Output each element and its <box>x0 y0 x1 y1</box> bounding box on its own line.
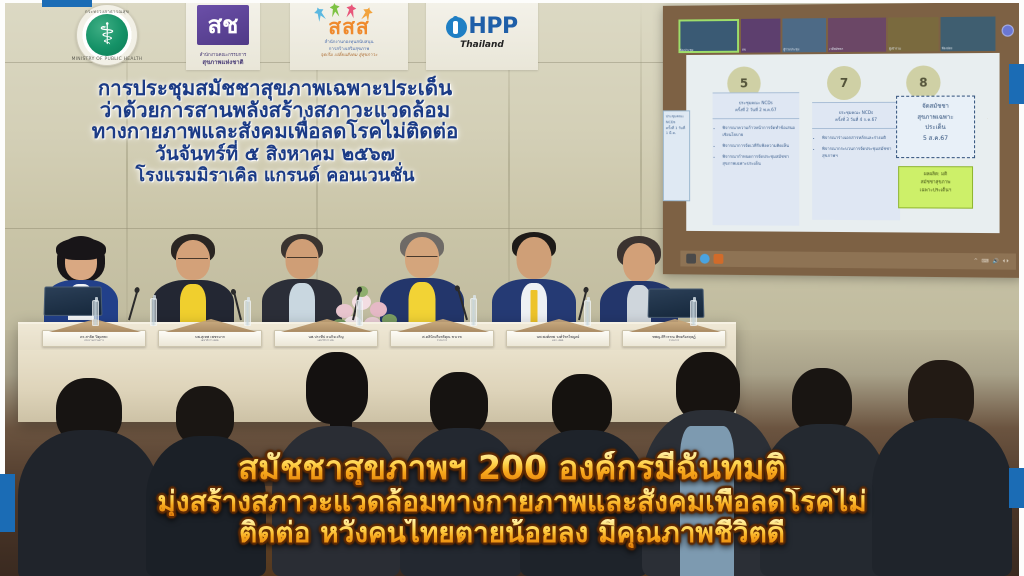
backdrop-line-4: วันจันทร์ที่ ๕ สิงหาคม ๒๕๖๗ <box>60 145 490 164</box>
audience-head <box>430 372 488 436</box>
accent-right-top <box>1009 64 1024 104</box>
col7-bullet: พิจารณากระบวนการจัดประชุมสมัชชาสุขภาพฯ <box>822 146 896 160</box>
screenshot-root: กระทรวงสาธารณสุข MINISTRY OF PUBLIC HEAL… <box>0 0 1024 576</box>
dashed-line: สุขภาพเฉพาะ <box>899 112 972 123</box>
panelist <box>600 236 678 334</box>
moph-ring-bottom: MINISTRY OF PUBLIC HEALTH <box>72 57 143 62</box>
nameplate-role: เลขาธิการ สช. <box>318 339 335 342</box>
accent-right-bottom <box>1009 468 1024 508</box>
projector-screen: ห้องประชุม สช ผู้ร่วมประชุม เวทีสมัชชา ผ… <box>663 2 1022 278</box>
nameplate: นพ.ประทีป ธนกิจเจริญ เลขาธิการ สช. <box>274 330 378 347</box>
audience-body <box>272 426 400 576</box>
head-table: ดร.สาธิต ปิตุเตชะ ประธานกรรมการ นพ.สุเทพ… <box>18 322 736 422</box>
logo-thaihealth: สสส สำนักงานกองทุนสนับสนุน การสร้างเสริม… <box>290 0 408 70</box>
thaihealth-sub-line1: สำนักงานกองทุนสนับสนุน <box>290 40 408 47</box>
slide-output-green-box: ผลผลิต: มติ สมัชชาสุขภาพ เฉพาะประเด็นฯ <box>898 166 973 209</box>
audience-body <box>872 418 1012 576</box>
thaihealth-sub-line3: จุดเริ่ม เปลี่ยนสังคม สู่สุขภาวะ <box>290 53 408 60</box>
water-bottle <box>690 300 697 326</box>
audience-body <box>520 430 648 576</box>
video-tile-label: ห้องย่อย <box>942 46 953 51</box>
nhco-caption-line2: สุขภาพแห่งชาติ <box>186 59 260 67</box>
accent-top-tab <box>42 0 92 7</box>
video-tile[interactable]: สช <box>741 19 780 53</box>
logo-ihpp: HPP Thailand <box>426 0 538 70</box>
ihpp-country-label: Thailand <box>426 40 538 50</box>
water-bottle <box>150 298 157 326</box>
table-skirt <box>18 350 736 422</box>
system-tray[interactable]: ^ ⌨ 🔊 ⏴⏵ <box>974 258 1010 264</box>
slide-left-partial-column: ประชุมคณะ NCDs ครั้งที่ 1 วันที่ 1 มี.ค. <box>663 110 690 201</box>
dashed-line: 5 ส.ค.67 <box>899 133 972 144</box>
slide-column-5: ประชุมคณะ NCDs ครั้งที่ 2 วันที่ 2 พ.ค.6… <box>713 92 800 226</box>
panelist <box>152 234 234 334</box>
nameplate-role: ผจก. สสส. <box>552 339 564 342</box>
panelist <box>492 232 576 334</box>
nhco-mark-icon: สช <box>197 5 249 45</box>
moph-seal-icon: กระทรวงสาธารณสุข MINISTRY OF PUBLIC HEAL… <box>76 4 138 66</box>
backdrop-line-2: ว่าด้วยการสานพลังสร้างสภาวะแวดล้อม <box>60 100 490 121</box>
windows-start-icon[interactable] <box>686 254 696 264</box>
video-tile-label: เวทีสมัชชา <box>829 47 843 52</box>
logo-nhco: สช สำนักงานคณะกรรมการ สุขภาพแห่งชาติ <box>186 0 260 70</box>
logo-ministry-of-public-health: กระทรวงสาธารณสุข MINISTRY OF PUBLIC HEAL… <box>60 0 168 70</box>
col5-head-2: ครั้งที่ 2 วันที่ 2 พ.ค.67 <box>716 106 797 113</box>
dashed-line: ประเด็น <box>899 123 972 134</box>
nameplate: ดร.สาธิต ปิตุเตชะ ประธานกรรมการ <box>42 330 146 347</box>
slide-step-circle-8: 8 <box>906 65 940 99</box>
video-tile-label: ผู้เข้าร่วม <box>889 47 901 52</box>
frame-left-white-edge <box>0 0 5 474</box>
water-bottle <box>356 300 363 326</box>
backdrop-line-5: โรงแรมมิราเคิล แกรนด์ คอนเวนชั่น <box>60 167 490 185</box>
video-tile[interactable]: ผู้เข้าร่วม <box>888 17 938 52</box>
video-call-thumbnail-strip: ห้องประชุม สช ผู้ร่วมประชุม เวทีสมัชชา ผ… <box>678 16 1015 53</box>
video-tile[interactable]: ห้องประชุม <box>678 19 739 53</box>
water-bottle <box>584 300 591 326</box>
backdrop-line-1: การประชุมสมัชชาสุขภาพเฉพาะประเด็น <box>60 78 490 99</box>
video-tile[interactable]: ผู้ร่วมประชุม <box>782 18 826 52</box>
video-tile[interactable]: เวทีสมัชชา <box>828 18 886 53</box>
nameplate-role: กรรมการ <box>669 339 680 342</box>
dashed-line: จัดสมัชชา <box>899 102 972 113</box>
browser-icon[interactable] <box>700 254 710 264</box>
sponsor-logo-strip: กระทรวงสาธารณสุข MINISTRY OF PUBLIC HEAL… <box>38 0 518 72</box>
green-line: ผลผลิต: มติ <box>901 171 970 179</box>
nameplate: นพ.พงศ์เทพ วงศ์วัชรไพบูลย์ ผจก. สสส. <box>506 330 610 347</box>
green-line: เฉพาะประเด็นฯ <box>901 187 970 195</box>
frame-top-white-edge <box>0 0 1024 3</box>
thaihealth-wordmark: สสส <box>290 17 408 38</box>
backdrop-event-title: การประชุมสมัชชาสุขภาพเฉพาะประเด็น ว่าด้ว… <box>60 78 490 185</box>
audience-head <box>552 374 612 438</box>
panelist <box>44 236 118 332</box>
nhco-glyph: สช <box>208 13 239 37</box>
video-tile-label: สช <box>742 48 746 53</box>
slide-outcome-dashed-box: จัดสมัชชา สุขภาพเฉพาะ ประเด็น 5 ส.ค.67 <box>896 96 975 159</box>
left-partial-head2: ครั้งที่ 1 วันที่ 1 มี.ค. <box>666 126 687 137</box>
water-bottle <box>470 298 477 326</box>
backdrop-line-3: ทางกายภาพและสังคมเพื่อลดโรคไม่ติดต่อ <box>60 121 490 142</box>
audience-body <box>18 430 160 576</box>
video-tile-label: ห้องประชุม <box>679 48 693 53</box>
ihpp-i-icon <box>446 17 467 38</box>
nameplate-role: ประธานกรรมการ <box>84 339 104 342</box>
slide-step-circle-7: 7 <box>827 66 861 100</box>
thaihealth-subtitle: สำนักงานกองทุนสนับสนุน การสร้างเสริมสุขภ… <box>290 40 408 60</box>
col7-bullet: พิจารณาร่างเอกสารหลักและร่างมติ <box>822 135 896 142</box>
audience-body <box>400 428 522 576</box>
col5-bullet: พิจารณาความก้าวหน้าการจัดทำข้อเสนอเชิงนโ… <box>722 125 795 139</box>
ihpp-wordmark: HPP <box>468 16 517 38</box>
more-participants-icon[interactable] <box>1002 24 1014 36</box>
col5-bullet: พิจารณาการจัดเวทีรับฟังความคิดเห็น <box>722 143 795 150</box>
nameplate-role: เลขาธิการ คสช. <box>201 339 219 342</box>
video-tile-label: ผู้ร่วมประชุม <box>783 47 799 52</box>
nameplate-role: กรรมการ <box>437 339 448 342</box>
nameplate: นพ.สุเทพ เพชรมาก เลขาธิการ คสช. <box>158 330 262 347</box>
green-line: สมัชชาสุขภาพ <box>901 179 970 187</box>
audience-body <box>760 424 888 576</box>
slide-column-7: ประชุมคณะ NCDs ครั้งที่ 3 วันที่ 4 ก.ค.6… <box>812 102 900 221</box>
caduceus-icon: ⚕ <box>99 20 115 50</box>
projected-taskbar: ^ ⌨ 🔊 ⏴⏵ <box>680 251 1016 270</box>
water-bottle <box>244 300 251 326</box>
app-icon[interactable] <box>714 254 724 264</box>
presentation-slide: ประชุมคณะ NCDs ครั้งที่ 1 วันที่ 1 มี.ค.… <box>686 53 999 233</box>
accent-left-bottom <box>0 474 15 532</box>
nameplate: ศ.คลินิกเกียรติคุณ ชวเวช กรรมการ <box>390 330 494 347</box>
col5-bullet: พิจารณากำหนดการจัดประชุมสมัชชาสุขภาพเฉพา… <box>722 154 795 168</box>
water-bottle <box>92 300 99 326</box>
nhco-caption: สำนักงานคณะกรรมการ สุขภาพแห่งชาติ <box>186 53 260 67</box>
left-partial-head: ประชุมคณะ NCDs <box>666 114 687 125</box>
col7-head-2: ครั้งที่ 3 วันที่ 4 ก.ค.67 <box>815 116 897 123</box>
nhco-caption-line1: สำนักงานคณะกรรมการ <box>200 53 247 58</box>
nameplate: ทพญ.ศิริวรรณ พิทยรังสฤษฏ์ กรรมการ <box>622 330 726 347</box>
audience-body <box>146 436 266 576</box>
video-tile[interactable]: ห้องย่อย <box>941 17 996 52</box>
